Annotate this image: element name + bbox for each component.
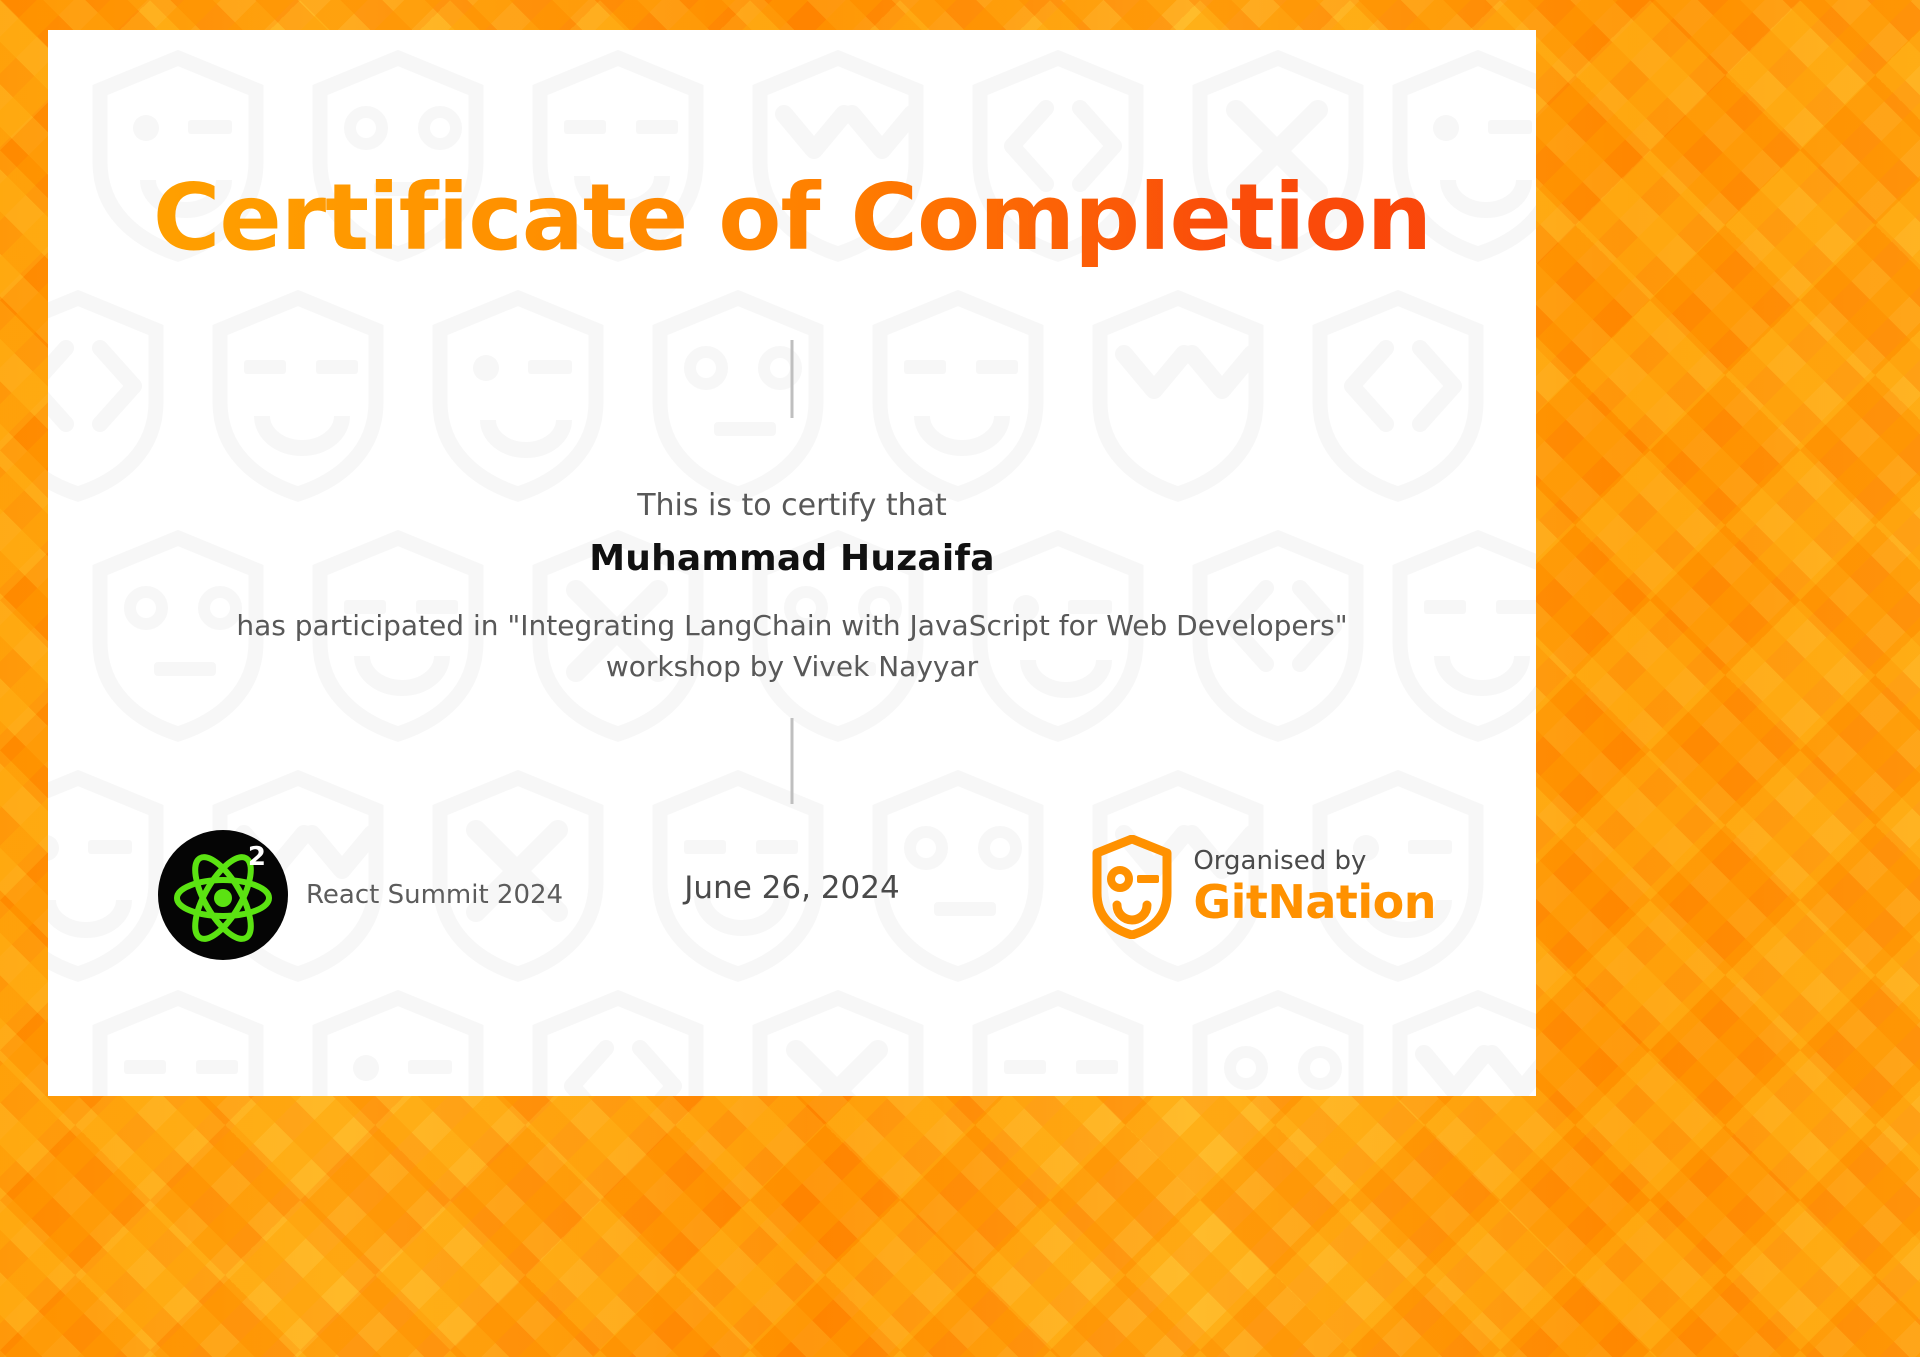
organiser-name: GitNation [1193, 877, 1436, 928]
description: has participated in "Integrating LangCha… [168, 605, 1416, 687]
organiser-text: Organised by GitNation [1193, 846, 1436, 928]
react-logo-superscript: 2 [248, 844, 266, 870]
divider-top [791, 340, 794, 418]
certificate-root: Certificate of Completion This is to cer… [0, 0, 1920, 1357]
organiser-block: Organised by GitNation [1091, 835, 1436, 939]
recipient-name: Muhammad Huzaifa [48, 538, 1536, 579]
certificate-title: Certificate of Completion [48, 170, 1536, 267]
gitnation-shield-face-icon [1091, 835, 1173, 939]
divider-bottom [791, 718, 794, 804]
description-line-2: workshop by Vivek Nayyar [168, 646, 1416, 687]
certificate-card: Certificate of Completion This is to cer… [48, 30, 1536, 1096]
certificate-footer: 2 React Summit 2024 June 26, 2024 Or [48, 830, 1536, 970]
description-line-1: has participated in "Integrating LangCha… [168, 605, 1416, 646]
organiser-prefix: Organised by [1193, 846, 1436, 877]
certify-line: This is to certify that [48, 488, 1536, 523]
